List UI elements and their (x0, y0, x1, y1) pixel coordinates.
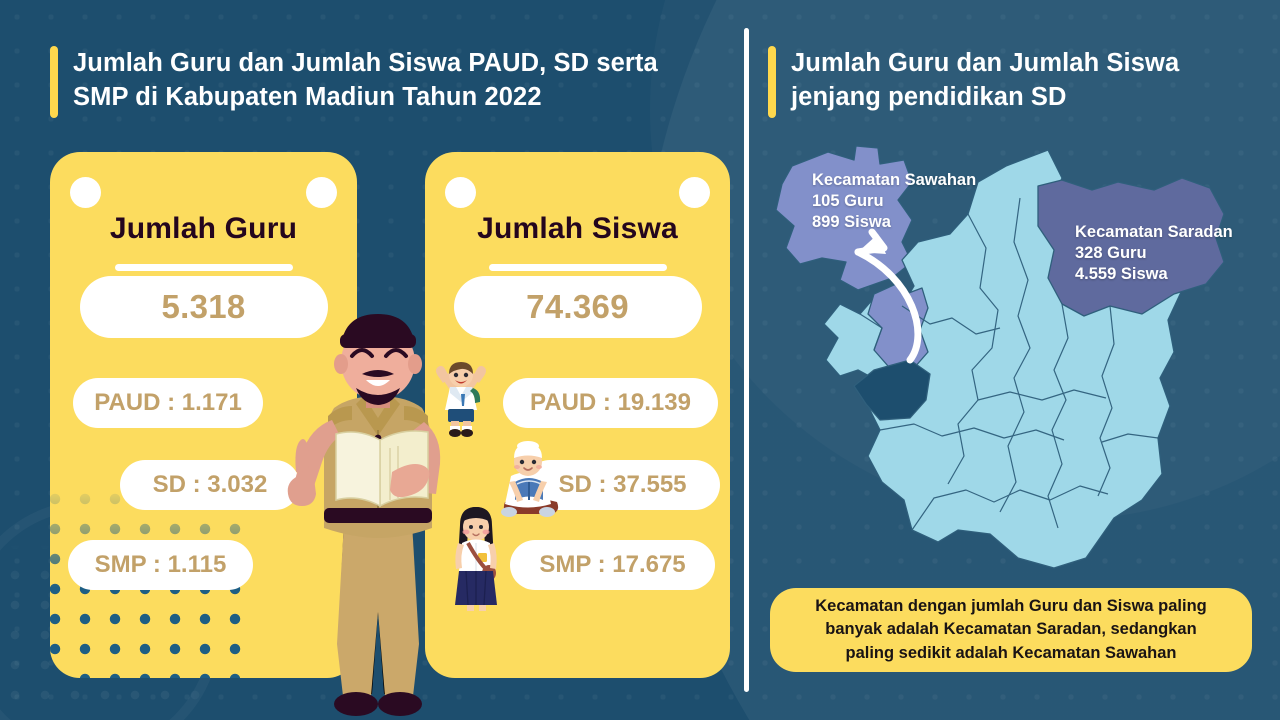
title-accent-bar (50, 46, 58, 118)
total-value-pill: 5.318 (80, 276, 328, 338)
infographic-canvas: Jumlah Guru dan Jumlah Siswa PAUD, SD se… (0, 0, 1280, 720)
breakdown-pill-smp: SMP : 1.115 (68, 540, 253, 590)
panel-divider (744, 28, 749, 692)
card-underline (115, 264, 293, 271)
map-label-sawahan: Kecamatan Sawahan 105 Guru 899 Siswa (812, 170, 976, 233)
breakdown-pill-paud: PAUD : 1.171 (73, 378, 263, 428)
breakdown-label: SMP : 17.675 (539, 551, 685, 579)
total-value: 74.369 (526, 288, 629, 326)
punch-hole-left-icon (70, 177, 101, 208)
breakdown-label: SD : 3.032 (153, 471, 268, 499)
conclusion-text: Kecamatan dengan jumlah Guru dan Siswa p… (815, 595, 1207, 664)
right-panel-title: Jumlah Guru dan Jumlah Siswa jenjang pen… (768, 46, 1179, 118)
breakdown-label: PAUD : 19.139 (530, 389, 691, 417)
total-value: 5.318 (161, 288, 245, 326)
breakdown-label: SMP : 1.115 (95, 551, 227, 579)
card-heading: Jumlah Guru (50, 212, 357, 246)
breakdown-label: PAUD : 1.171 (94, 389, 242, 417)
stat-card-jumlah-siswa: Jumlah Siswa 74.369 PAUD : 19.139 SD : 3… (425, 152, 730, 678)
punch-hole-left-icon (445, 177, 476, 208)
breakdown-label: SD : 37.555 (558, 471, 686, 499)
left-panel-title: Jumlah Guru dan Jumlah Siswa PAUD, SD se… (50, 46, 658, 118)
breakdown-pill-paud: PAUD : 19.139 (503, 378, 718, 428)
breakdown-pill-smp: SMP : 17.675 (510, 540, 715, 590)
punch-hole-right-icon (306, 177, 337, 208)
conclusion-box: Kecamatan dengan jumlah Guru dan Siswa p… (770, 588, 1252, 672)
breakdown-pill-sd: SD : 37.555 (525, 460, 720, 510)
card-underline (489, 264, 667, 271)
stat-card-jumlah-guru: Jumlah Guru 5.318 PAUD : 1.171 SD : 3.03… (50, 152, 357, 678)
card-heading: Jumlah Siswa (425, 212, 730, 246)
punch-hole-right-icon (679, 177, 710, 208)
right-title-text: Jumlah Guru dan Jumlah Siswa jenjang pen… (791, 46, 1179, 114)
left-title-text: Jumlah Guru dan Jumlah Siswa PAUD, SD se… (73, 46, 658, 114)
map-label-saradan: Kecamatan Saradan 328 Guru 4.559 Siswa (1075, 222, 1233, 285)
title-accent-bar (768, 46, 776, 118)
breakdown-pill-sd: SD : 3.032 (120, 460, 300, 510)
total-value-pill: 74.369 (454, 276, 702, 338)
